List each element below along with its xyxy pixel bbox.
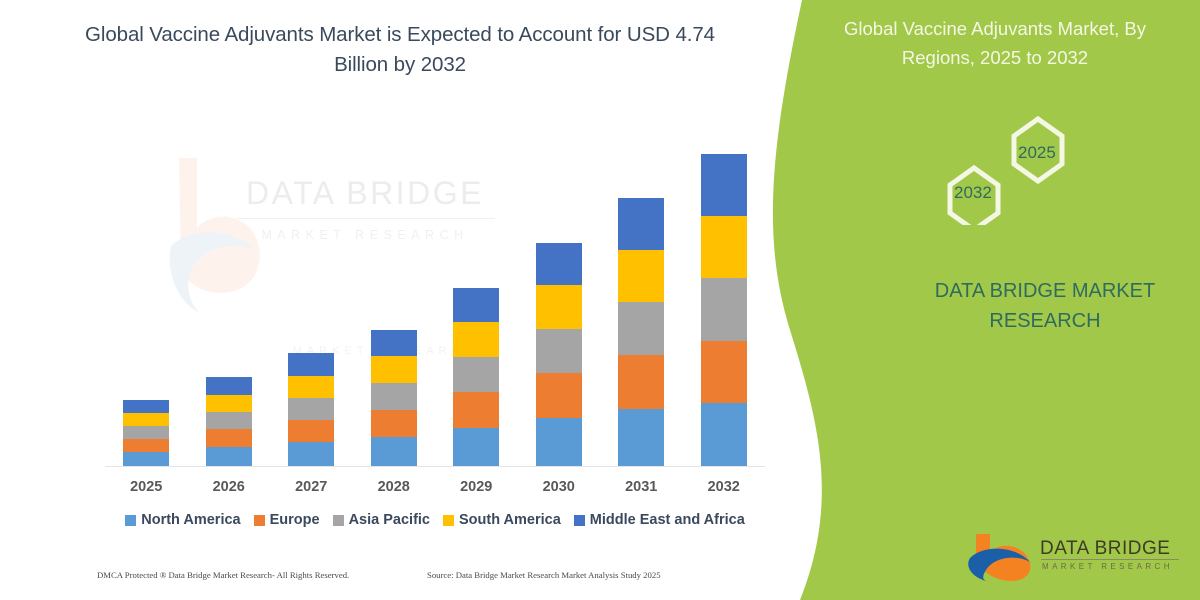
bar-segment[interactable] [288,353,334,376]
bar-segment[interactable] [701,278,747,341]
x-axis-line [105,466,765,467]
brand-name-line2: RESEARCH [989,310,1100,332]
bar-segment[interactable] [701,216,747,278]
bar-segment[interactable] [453,288,499,322]
bar-segment[interactable] [618,250,664,302]
x-axis-label-2030: 2030 [519,479,599,495]
chart-panel: Global Vaccine Adjuvants Market is Expec… [0,0,800,600]
bar-segment[interactable] [536,418,582,466]
bar-segment[interactable] [123,400,169,413]
bar-segment[interactable] [123,439,169,452]
bar-2028[interactable] [371,330,417,466]
footer-dmca-notice: DMCA Protected ® Data Bridge Market Rese… [97,570,349,580]
bar-segment[interactable] [536,243,582,285]
bar-2025[interactable] [123,400,169,466]
bar-segment[interactable] [371,383,417,410]
bar-2030[interactable] [536,243,582,466]
x-axis-label-2028: 2028 [354,479,434,495]
bar-segment[interactable] [453,357,499,392]
legend-item[interactable]: Europe [254,512,320,528]
chart-legend: North AmericaEuropeAsia PacificSouth Ame… [105,512,765,528]
bar-segment[interactable] [371,356,417,383]
legend-item[interactable]: Middle East and Africa [574,512,745,528]
bar-segment[interactable] [206,447,252,466]
bar-segment[interactable] [371,410,417,437]
x-axis-label-2025: 2025 [106,479,186,495]
bar-segment[interactable] [123,452,169,466]
bar-2029[interactable] [453,288,499,466]
brand-name: DATA BRIDGE MARKET RESEARCH [905,276,1185,336]
x-axis-label-2026: 2026 [189,479,269,495]
bar-segment[interactable] [371,330,417,356]
bar-segment[interactable] [288,420,334,442]
brand-name-line1: DATA BRIDGE MARKET [935,280,1155,302]
bar-segment[interactable] [288,376,334,398]
legend-swatch-icon [333,515,344,526]
legend-label: Asia Pacific [349,512,430,528]
legend-label: Europe [270,512,320,528]
logo-subtitle: MARKET RESEARCH [1042,562,1173,571]
legend-label: Middle East and Africa [590,512,745,528]
bar-2026[interactable] [206,377,252,466]
bar-segment[interactable] [206,429,252,447]
legend-item[interactable]: South America [443,512,561,528]
bar-segment[interactable] [288,398,334,420]
bar-2031[interactable] [618,198,664,466]
bar-segment[interactable] [701,341,747,403]
bar-segment[interactable] [536,329,582,373]
bar-segment[interactable] [123,413,169,426]
legend-swatch-icon [125,515,136,526]
bar-segment[interactable] [453,392,499,428]
bar-segment[interactable] [536,373,582,418]
legend-item[interactable]: North America [125,512,240,528]
bar-segment[interactable] [371,437,417,466]
hex-label-start-year: 2025 [1018,143,1056,163]
bar-segment[interactable] [453,428,499,466]
x-axis-label-2027: 2027 [271,479,351,495]
bar-segment[interactable] [453,322,499,357]
legend-label: South America [459,512,561,528]
legend-swatch-icon [574,515,585,526]
bar-segment[interactable] [206,412,252,429]
hexagon-outline-icon [930,110,1130,225]
x-axis-label-2032: 2032 [684,479,764,495]
bar-segment[interactable] [618,198,664,250]
bar-segment[interactable] [206,377,252,395]
bar-segment[interactable] [206,395,252,412]
hex-label-end-year: 2032 [954,183,992,203]
bar-segment[interactable] [618,409,664,466]
bar-segment[interactable] [701,403,747,466]
bar-2032[interactable] [701,154,747,466]
x-axis-label-2031: 2031 [601,479,681,495]
bar-segment[interactable] [123,426,169,439]
bar-segment[interactable] [288,442,334,466]
legend-item[interactable]: Asia Pacific [333,512,430,528]
legend-swatch-icon [254,515,265,526]
bar-segment[interactable] [618,302,664,355]
legend-swatch-icon [443,515,454,526]
hexagon-year-badges: 2025 2032 [930,110,1130,225]
x-axis-label-2029: 2029 [436,479,516,495]
logo-mark-icon [968,532,1038,582]
data-bridge-logo: DATA BRIDGE MARKET RESEARCH [968,532,1183,584]
infographic-root: Global Vaccine Adjuvants Market is Expec… [0,0,1200,600]
bar-segment[interactable] [536,285,582,329]
stacked-bar-chart: 20252026202720282029203020312032 [0,0,800,600]
bar-segment[interactable] [618,355,664,409]
bar-2027[interactable] [288,353,334,466]
brand-panel-title: Global Vaccine Adjuvants Market, By Regi… [810,14,1180,72]
legend-label: North America [141,512,240,528]
footer-source-note: Source: Data Bridge Market Research Mark… [427,570,661,580]
bar-segment[interactable] [701,154,747,216]
logo-title: DATA BRIDGE [1040,538,1170,560]
